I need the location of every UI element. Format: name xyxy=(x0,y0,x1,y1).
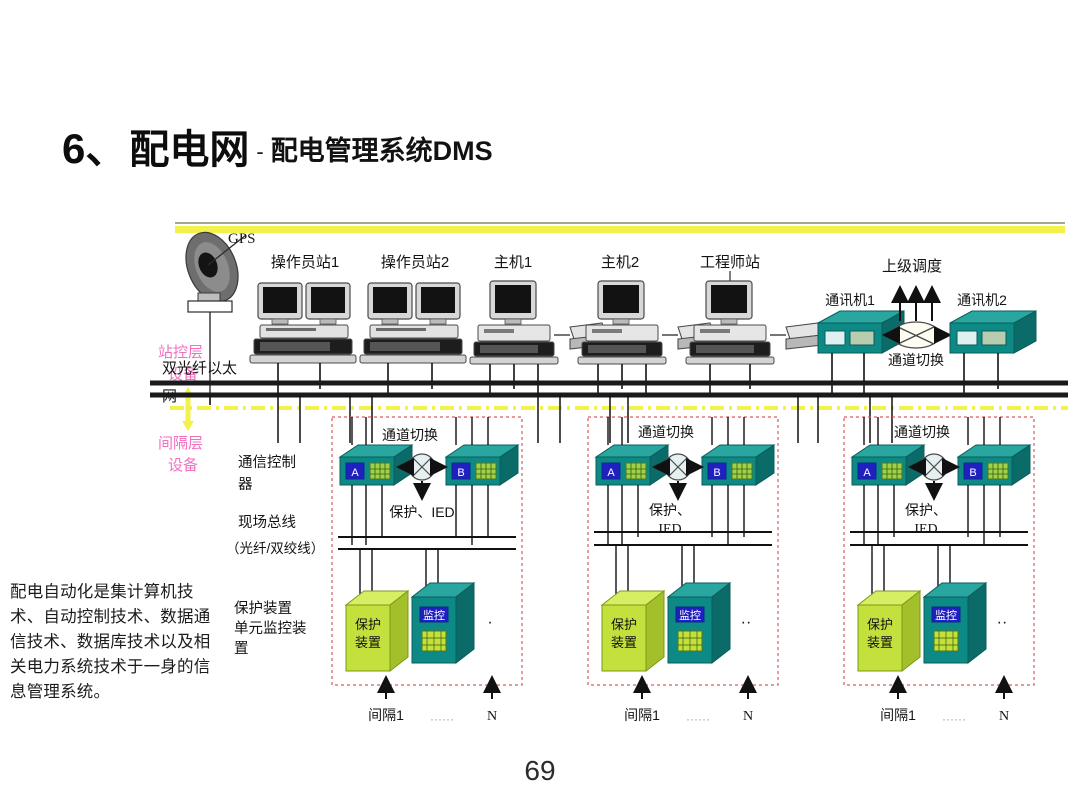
svg-text:器: 器 xyxy=(238,477,253,493)
ethernet-bus-lines xyxy=(150,383,1068,395)
gps-label: GPS xyxy=(228,231,256,247)
bay-3-protect-line1: 保护 xyxy=(867,617,893,632)
layer-label-bay: 间隔层 设备 xyxy=(158,435,203,474)
station-label-4: 工程师站 xyxy=(700,254,760,271)
station-label-3: 主机2 xyxy=(601,254,639,271)
station-label-0: 操作员站1 xyxy=(271,254,339,271)
bay-1-protect-line1: 保护 xyxy=(355,617,381,632)
bay-3-controller-a: A xyxy=(852,445,924,485)
bay-3-dots-label: ······ xyxy=(942,712,966,726)
workstation-engineer xyxy=(686,271,822,395)
bay-3-protect-line2: 装置 xyxy=(867,635,893,650)
title-dash: - xyxy=(256,139,263,165)
bay-1-protect-line2: 装置 xyxy=(355,635,381,650)
bay-2-protect-line2: 装置 xyxy=(611,635,637,650)
upper-dispatch-label: 上级调度 xyxy=(882,258,942,275)
bay-2-protection-device: 保护 装置 xyxy=(602,591,664,671)
bay-3-last-label: N xyxy=(999,709,1009,724)
bay-2-box-b-label: B xyxy=(713,467,720,479)
station-label-1: 操作员站2 xyxy=(381,254,449,271)
slide-root: 6、 配电网 - 配电管理系统DMS 配电自动化是集计算机技术、自动控制技术、数… xyxy=(0,0,1080,809)
svg-text:（光纤/双绞线）: （光纤/双绞线） xyxy=(226,540,324,556)
bay-2-first-label: 间隔1 xyxy=(624,707,660,723)
bay-1-controller-a: A xyxy=(340,445,412,485)
top-yellow-band xyxy=(175,223,1065,233)
workstation-operator-1 xyxy=(250,283,356,395)
bay-1-first-label: 间隔1 xyxy=(368,707,404,723)
bay-2-monitor-label: 监控 xyxy=(679,608,701,622)
bay-3-protection-ied-line2: IED xyxy=(914,522,937,537)
title-subtitle: 配电管理系统DMS xyxy=(271,129,493,168)
bay-2-protect-line1: 保护 xyxy=(611,617,637,632)
comm-machine-label-1: 通讯机2 xyxy=(957,292,1007,308)
dms-architecture-diagram: GPS 站控层 设备 间隔层 设备 操作员站1 操作员站2 主机1 主机2 工程… xyxy=(150,205,1070,730)
bay-1-protection-device: 保护 装置 xyxy=(346,591,408,671)
svg-text:置: 置 xyxy=(234,641,249,657)
title-number: 6、 xyxy=(62,115,127,176)
bay-group-2: 通道切换 A B xyxy=(588,417,778,726)
bay-2-protection-ied-line1: 保护、 xyxy=(649,502,691,518)
bay-3-channel-switch-label: 通道切换 xyxy=(894,424,950,440)
bay-2-protection-ied-line2: IED xyxy=(658,522,681,537)
bay-1-dots-label: ······ xyxy=(430,712,454,726)
bay-3-first-label: 间隔1 xyxy=(880,707,916,723)
bay-3-controller-b: B xyxy=(958,445,1030,485)
bay-2-last-label: N xyxy=(743,709,753,724)
bay-3-box-a-label: A xyxy=(863,467,871,479)
bus-label-line1: 双光纤以太 xyxy=(162,360,237,377)
page-number: 69 xyxy=(0,755,1080,787)
bay-3-ellipsis: ·· xyxy=(997,614,1008,631)
bay-1-protection-ied-label: 保护、IED xyxy=(389,504,454,520)
bay-3-protection-device: 保护 装置 xyxy=(858,591,920,671)
title-main: 配电网 xyxy=(129,117,249,175)
bus-drop-lines xyxy=(210,395,892,443)
svg-text:现场总线: 现场总线 xyxy=(238,514,296,531)
svg-text:设备: 设备 xyxy=(168,457,198,474)
bay-3-box-b-label: B xyxy=(969,467,976,479)
bay-1-monitor-label: 监控 xyxy=(423,608,445,622)
bay-3-monitor-device: 监控 xyxy=(924,583,986,663)
svg-text:通信控制: 通信控制 xyxy=(238,454,296,471)
bay-1-channel-switch-label: 通道切换 xyxy=(382,427,438,443)
bay-2-box-a-label: A xyxy=(607,467,615,479)
channel-switch-station-label: 通道切换 xyxy=(888,352,944,368)
bay-2-controller-a: A xyxy=(596,445,668,485)
bay-3-protection-ied-line1: 保护、 xyxy=(905,502,947,518)
bay-group-1: 通道切换 A B xyxy=(332,417,522,726)
bay-2-channel-switch-label: 通道切换 xyxy=(638,424,694,440)
bay-1-controller-b: B xyxy=(446,445,518,485)
side-label-protection-device: 保护装置 单元监控装 置 xyxy=(234,600,307,657)
bay-2-dots-label: ······ xyxy=(686,712,710,726)
bay-1-monitor-device: 监控 xyxy=(412,583,474,663)
station-label-2: 主机1 xyxy=(494,254,532,271)
svg-text:站控层: 站控层 xyxy=(158,344,203,361)
bay-group-3: 通道切换 A B xyxy=(844,417,1034,726)
svg-text:保护装置: 保护装置 xyxy=(234,600,292,617)
svg-text:单元监控装: 单元监控装 xyxy=(234,620,307,637)
bay-1-last-label: N xyxy=(487,709,497,724)
workstation-operator-2 xyxy=(360,283,466,395)
side-label-fieldbus: 现场总线 （光纤/双绞线） xyxy=(226,514,324,556)
bay-1-box-a-label: A xyxy=(351,467,359,479)
page-title: 6、 配电网 - 配电管理系统DMS xyxy=(62,115,493,176)
bay-3-monitor-label: 监控 xyxy=(935,608,957,622)
svg-text:间隔层: 间隔层 xyxy=(158,435,203,452)
bay-2-ellipsis: ·· xyxy=(741,614,752,631)
side-label-comm-controller: 通信控制 器 xyxy=(238,454,296,493)
bay-2-monitor-device: 监控 xyxy=(668,583,730,663)
bay-2-controller-b: B xyxy=(702,445,774,485)
comm-machine-label-0: 通讯机1 xyxy=(825,292,875,308)
bay-1-ellipsis: · xyxy=(487,614,492,631)
bay-1-box-b-label: B xyxy=(457,467,464,479)
